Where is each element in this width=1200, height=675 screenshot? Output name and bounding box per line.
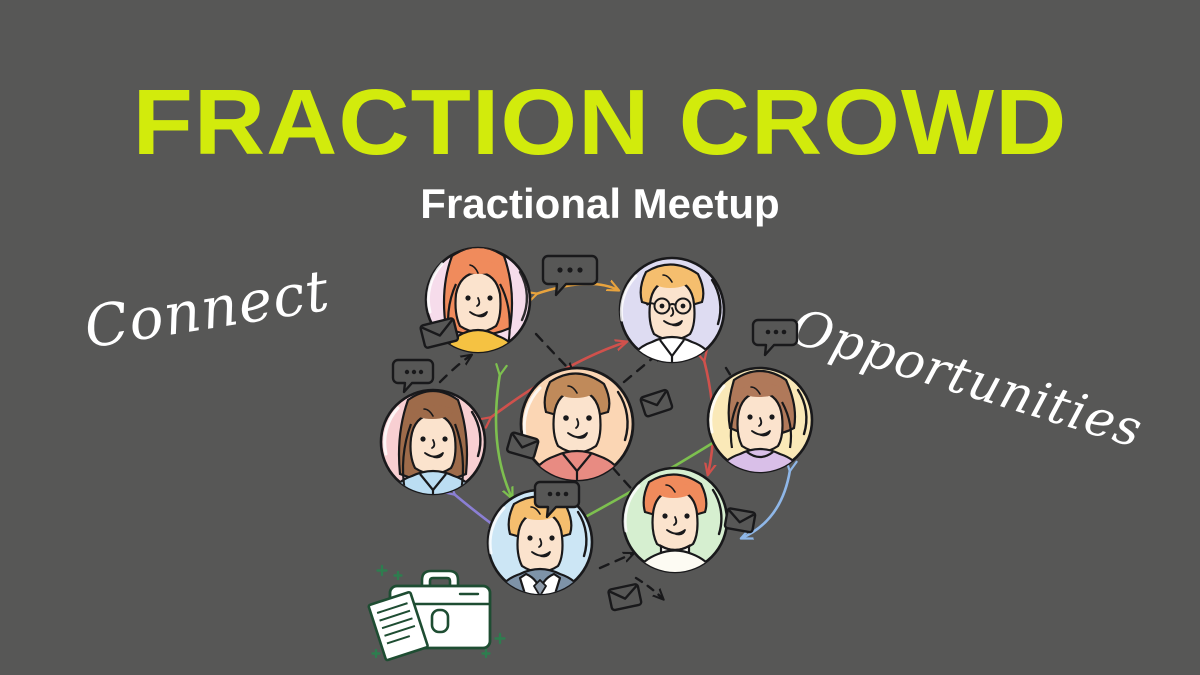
arrow-dashed-4 (440, 356, 470, 382)
envelope-icon (608, 584, 642, 611)
arrow-dashed-5 (600, 554, 632, 568)
arrow-dashed-1 (536, 334, 572, 372)
avatar-center (521, 368, 633, 495)
avatar-right (708, 368, 812, 490)
script-label-connect: Connect (80, 258, 334, 362)
chat-bubble-icon (393, 360, 433, 392)
page-subtitle: Fractional Meetup (0, 180, 1200, 228)
avatar-top-right (620, 258, 724, 380)
chat-bubble-icon (753, 320, 797, 355)
arrow-green-vertical (496, 374, 512, 498)
script-label-opportunities: Opportunities (785, 297, 1150, 459)
banner-canvas: FRACTION CROWD Fractional Meetup Connect… (0, 0, 1200, 675)
avatar-top-left (426, 247, 530, 370)
avatar-bottom-right (623, 468, 727, 592)
envelope-icon (725, 508, 756, 533)
page-title: FRACTION CROWD (0, 74, 1200, 170)
networking-avatars-illustration (360, 232, 830, 662)
briefcase-icon (368, 566, 504, 661)
arrow-orange (536, 284, 618, 294)
avatar-left (381, 390, 485, 512)
envelope-icon (640, 389, 673, 417)
